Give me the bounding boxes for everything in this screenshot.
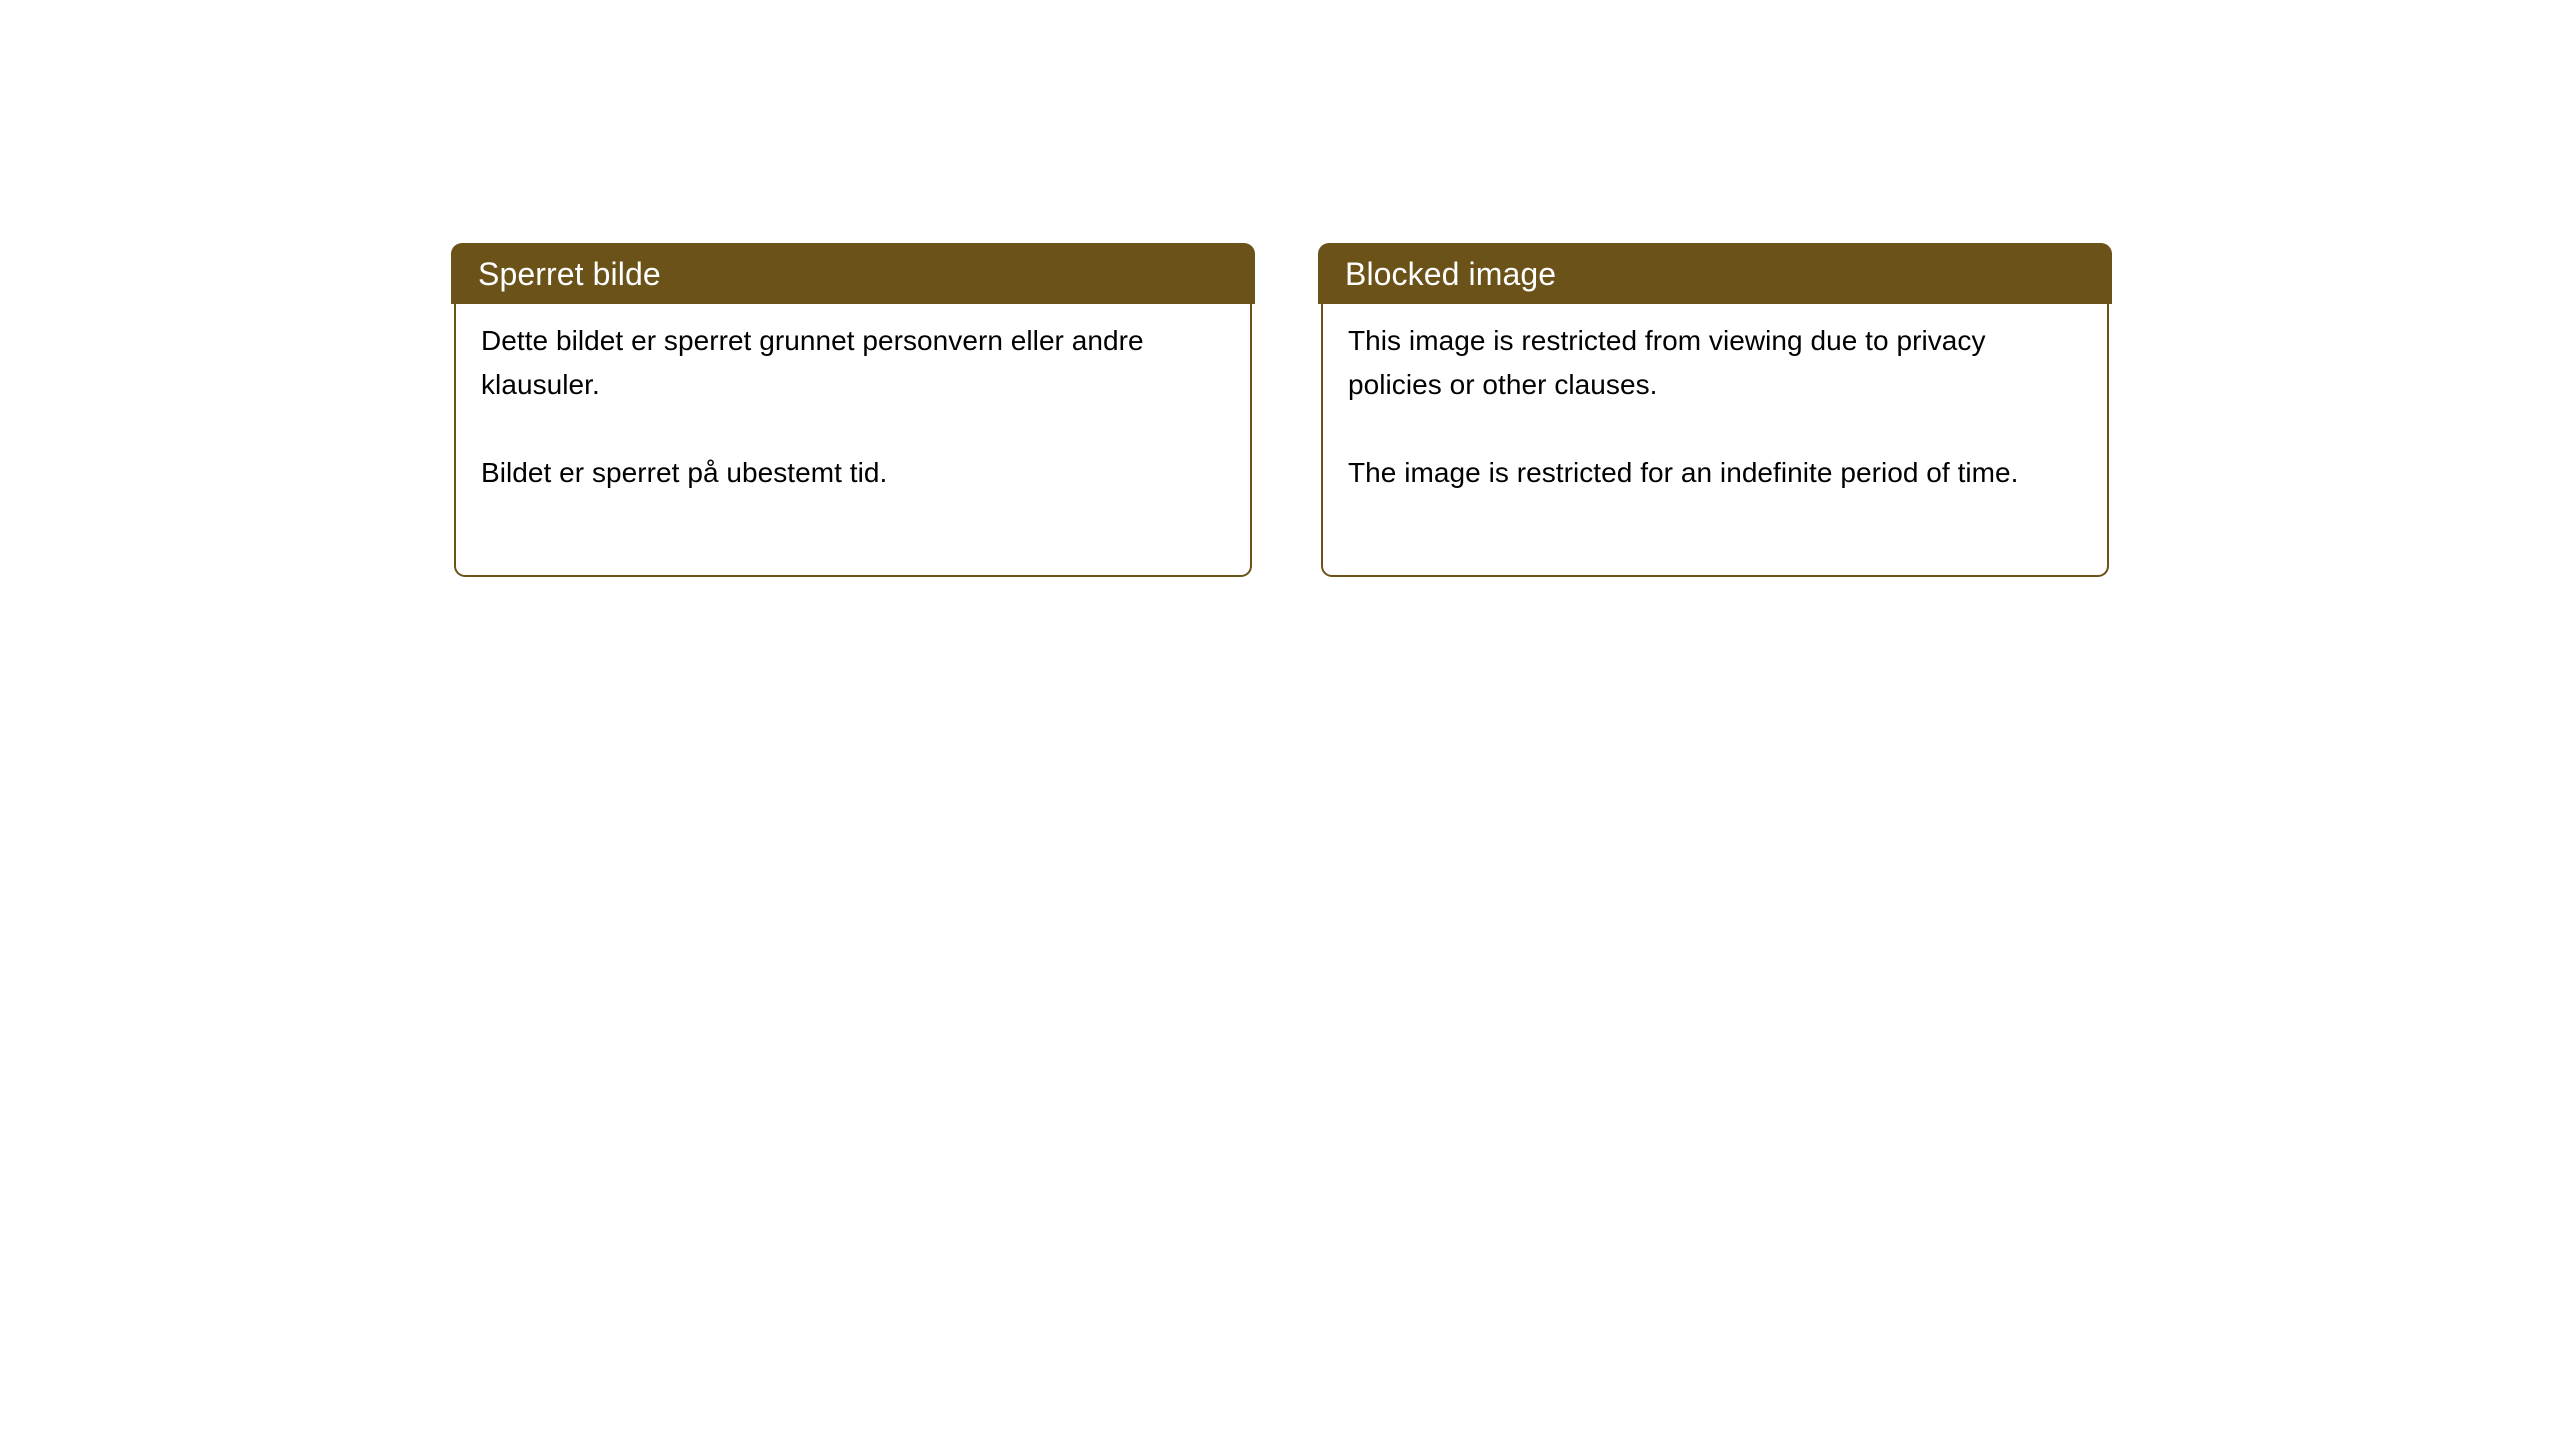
notice-paragraph-en-2: The image is restricted for an indefinit… [1348, 451, 2087, 495]
blocked-image-notice-en: Blocked image This image is restricted f… [1318, 243, 2112, 577]
notice-paragraph-en-1: This image is restricted from viewing du… [1348, 319, 2087, 407]
notice-title-no: Sperret bilde [478, 256, 661, 292]
page-canvas: Sperret bilde Dette bildet er sperret gr… [0, 0, 2560, 1440]
notice-title-en: Blocked image [1345, 256, 1556, 292]
blocked-image-notice-no: Sperret bilde Dette bildet er sperret gr… [451, 243, 1255, 577]
notice-header-en: Blocked image [1318, 243, 2112, 304]
notice-paragraph-no-1: Dette bildet er sperret grunnet personve… [481, 319, 1230, 407]
notice-header-no: Sperret bilde [451, 243, 1255, 304]
notice-body-en: This image is restricted from viewing du… [1321, 302, 2109, 577]
notice-body-no: Dette bildet er sperret grunnet personve… [454, 302, 1252, 577]
notice-paragraph-no-2: Bildet er sperret på ubestemt tid. [481, 451, 1230, 495]
